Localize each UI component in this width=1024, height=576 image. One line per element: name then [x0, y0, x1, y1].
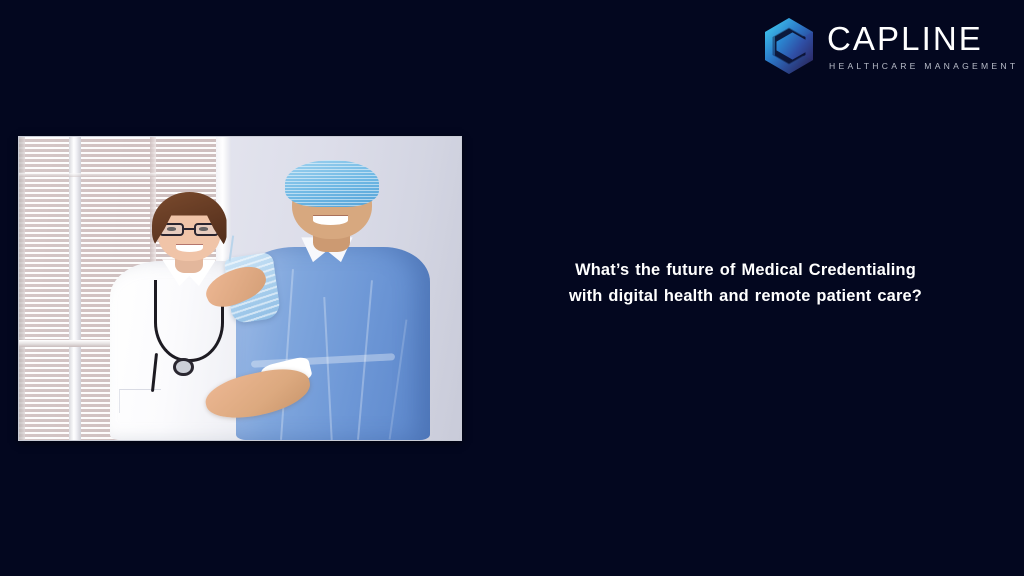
brand-logo[interactable]: CAPLINE HEALTHCARE MANAGEMENT — [762, 14, 1000, 78]
coat-pocket — [119, 389, 160, 413]
window-mullion — [69, 137, 80, 440]
eyeglasses-icon — [159, 223, 219, 236]
photo-scene — [19, 137, 461, 440]
glasses-bridge — [184, 228, 194, 230]
headline: What’s the future of Medical Credentiali… — [497, 258, 994, 309]
slide-canvas: CAPLINE HEALTHCARE MANAGEMENT — [0, 0, 1024, 576]
stethoscope-bell — [173, 358, 194, 376]
headline-line-2: with digital health and remote patient c… — [497, 284, 994, 310]
brand-name: CAPLINE — [827, 23, 1018, 55]
window-rail — [19, 173, 222, 176]
window-glass-edge — [19, 137, 25, 440]
capline-hexagon-c-logo-icon — [762, 17, 816, 75]
headline-line-1: What’s the future of Medical Credentiali… — [497, 258, 994, 284]
brand-tagline: HEALTHCARE MANAGEMENT — [827, 61, 1018, 71]
nurse-smile — [313, 215, 348, 224]
hero-photo — [18, 136, 462, 441]
surgical-cap — [285, 160, 378, 207]
brand-wordmark: CAPLINE HEALTHCARE MANAGEMENT — [827, 21, 1018, 71]
